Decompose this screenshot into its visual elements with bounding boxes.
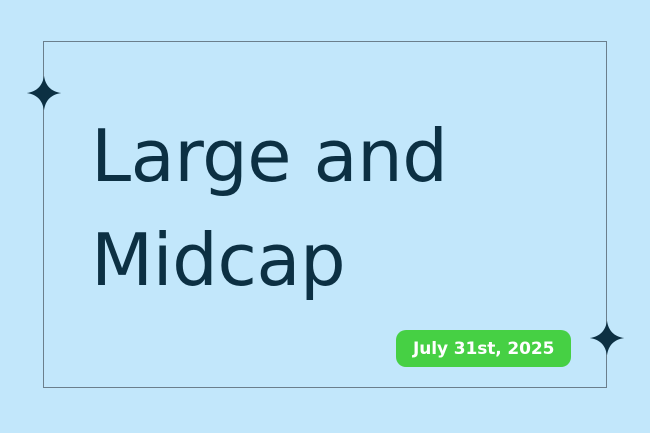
page-title: Large and Midcap: [91, 104, 561, 312]
sparkle-icon: [26, 75, 62, 111]
slide-canvas: Large and Midcap July 31st, 2025: [0, 0, 650, 433]
status-badge[interactable]: July 31st, 2025: [396, 330, 571, 367]
sparkle-icon: [589, 320, 625, 356]
status-badge-label: July 31st, 2025: [413, 339, 554, 359]
